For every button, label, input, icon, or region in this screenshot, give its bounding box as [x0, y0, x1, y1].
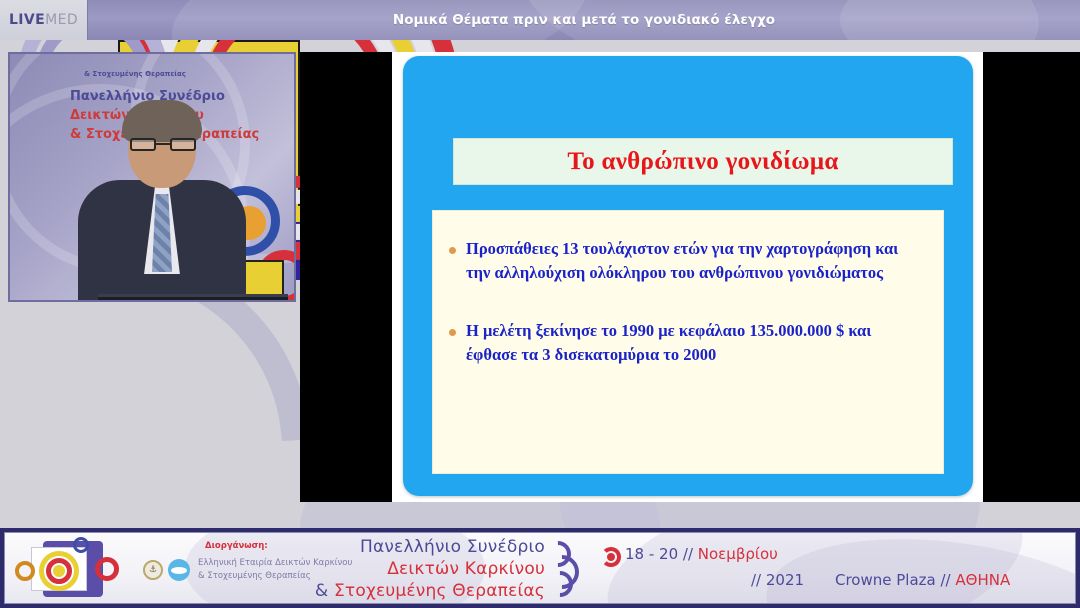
- venue-name: Crowne Plaza: [835, 571, 941, 589]
- slide-body-box: Προσπάθειες 13 τουλάχιστον ετών για την …: [432, 210, 944, 474]
- slide-bullet-text: Προσπάθειες 13 τουλάχιστον ετών για την …: [466, 237, 925, 285]
- slide-title: Το ανθρώπινο γονιδίωμα: [567, 148, 838, 176]
- podium: [98, 294, 288, 302]
- calendar-arc-icon: [601, 547, 621, 567]
- speaker-glasses: [130, 138, 196, 151]
- glasses-right-lens: [170, 138, 196, 151]
- conference-title: Πανελλήνιο Συνέδριο Δεικτών Καρκίνου & Σ…: [305, 537, 545, 602]
- backdrop-top-text: & Στοχευμένης Θεραπείας: [84, 70, 186, 78]
- date-separator-1: //: [683, 545, 698, 563]
- slide-bullet-item: Η μελέτη ξεκίνησε το 1990 με κεφάλαιο 13…: [445, 319, 925, 367]
- speaker-hair: [122, 100, 202, 142]
- logo-ring: [95, 557, 119, 581]
- glasses-bridge: [156, 143, 170, 145]
- logo-ring: [73, 537, 89, 553]
- conference-title-line1: Πανελλήνιο Συνέδριο: [305, 537, 545, 559]
- date-line-1: 18 - 20 // Νοεμβρίου: [625, 545, 778, 563]
- date-days: 18 - 20: [625, 545, 683, 563]
- date-year: 2021: [766, 571, 804, 589]
- logo-ring: [15, 561, 35, 581]
- letterbox-left: [300, 52, 392, 502]
- presentation-title: Νομικά Θέματα πριν και μετά το γονιδιακό…: [88, 0, 1080, 40]
- date-line-2: // 2021: [751, 571, 804, 589]
- conference-title-line2: Δεικτών Καρκίνου: [305, 559, 545, 581]
- bullet-dot-icon: [449, 329, 456, 336]
- organizer-globe-icon: [168, 559, 190, 581]
- presentation-slide[interactable]: Το ανθρώπινο γονιδίωμα Προσπάθειες 13 το…: [403, 56, 973, 496]
- venue-city: ΑΘΗΝΑ: [955, 571, 1010, 589]
- top-header-bar: LIVEMED Νομικά Θέματα πριν και μετά το γ…: [0, 0, 1080, 40]
- conference-title-line3: Στοχευμένης Θεραπείας: [334, 581, 545, 601]
- logo-med-text: MED: [45, 12, 78, 28]
- slide-bullet-text: Η μελέτη ξεκίνησε το 1990 με κεφάλαιο 13…: [466, 319, 925, 367]
- conference-title-line3-wrap: & Στοχευμένης Θεραπείας: [305, 581, 545, 603]
- date-separator-2: //: [751, 571, 766, 589]
- society-logo: [13, 537, 133, 601]
- footer-banner: Διοργάνωση: ⚓ Ελληνική Εταιρία Δεικτών Κ…: [0, 528, 1080, 608]
- presentation-stage: & Στοχευμένης Θεραπείας Πανελλήνιο Συνέδ…: [0, 40, 1080, 528]
- speaker-video-tile[interactable]: & Στοχευμένης Θεραπείας Πανελλήνιο Συνέδ…: [8, 52, 296, 302]
- conference-arc-icon: [545, 539, 587, 599]
- speaker-figure: [72, 106, 252, 302]
- organizer-seal-icon: ⚓: [143, 560, 163, 580]
- venue-block: Crowne Plaza // ΑΘΗΝΑ: [835, 571, 1010, 589]
- conference-ampersand: &: [315, 581, 328, 601]
- livemed-logo[interactable]: LIVEMED: [0, 0, 88, 40]
- venue-separator: //: [941, 571, 956, 589]
- letterbox-right: [983, 52, 1080, 502]
- slide-bullet-item: Προσπάθειες 13 τουλάχιστον ετών για την …: [445, 237, 925, 285]
- footer-inner: Διοργάνωση: ⚓ Ελληνική Εταιρία Δεικτών Κ…: [4, 532, 1076, 604]
- date-month: Νοεμβρίου: [698, 545, 778, 563]
- logo-live-text: LIVE: [9, 12, 45, 28]
- glasses-left-lens: [130, 138, 156, 151]
- bullet-dot-icon: [449, 247, 456, 254]
- slide-title-box: Το ανθρώπινο γονιδίωμα: [453, 138, 953, 185]
- logo-center-dot: [53, 565, 65, 577]
